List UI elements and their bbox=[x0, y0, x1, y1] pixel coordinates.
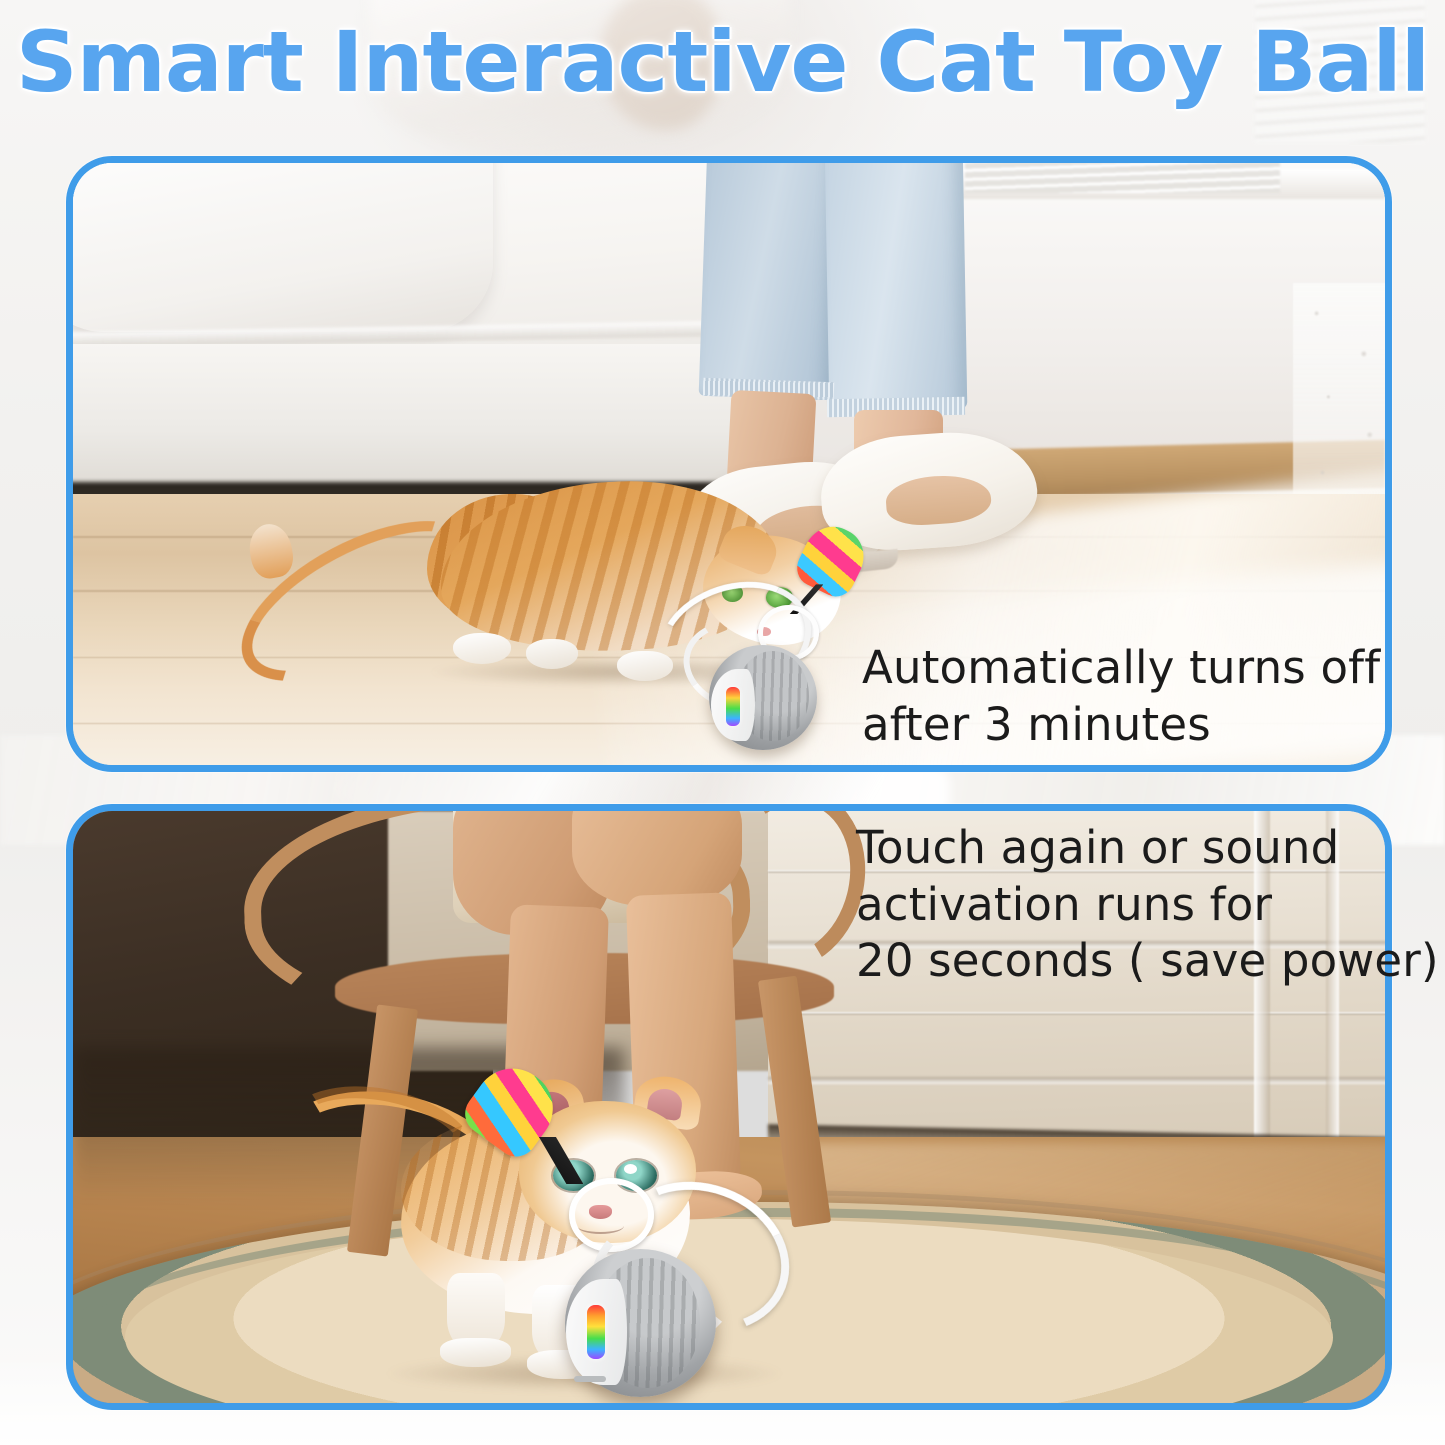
feature-callout-auto-off: Automatically turns off after 3 minutes bbox=[862, 640, 1380, 753]
cat-paw bbox=[526, 639, 578, 669]
infographic-page: Smart Interactive Cat Toy Ball bbox=[0, 0, 1445, 1445]
feature-callout-touch-sound: Touch again or sound activation runs for… bbox=[856, 820, 1439, 990]
window-blinds bbox=[965, 163, 1280, 193]
ball-charging-slot bbox=[574, 1376, 605, 1381]
cabinet-panel-line bbox=[768, 1012, 1385, 1015]
ball-led-strip bbox=[587, 1305, 605, 1358]
sofa-skirt bbox=[73, 344, 808, 488]
cabinet-groove bbox=[768, 1077, 1385, 1084]
person-thigh-right bbox=[572, 811, 743, 906]
jeans-left-leg bbox=[698, 163, 838, 400]
cat-paw bbox=[453, 633, 511, 664]
sofa-cushion bbox=[73, 163, 493, 332]
page-title: Smart Interactive Cat Toy Ball bbox=[0, 20, 1445, 104]
jeans-right-leg bbox=[825, 163, 967, 411]
kitten-paw bbox=[440, 1338, 511, 1368]
ball-led-strip bbox=[726, 687, 740, 727]
